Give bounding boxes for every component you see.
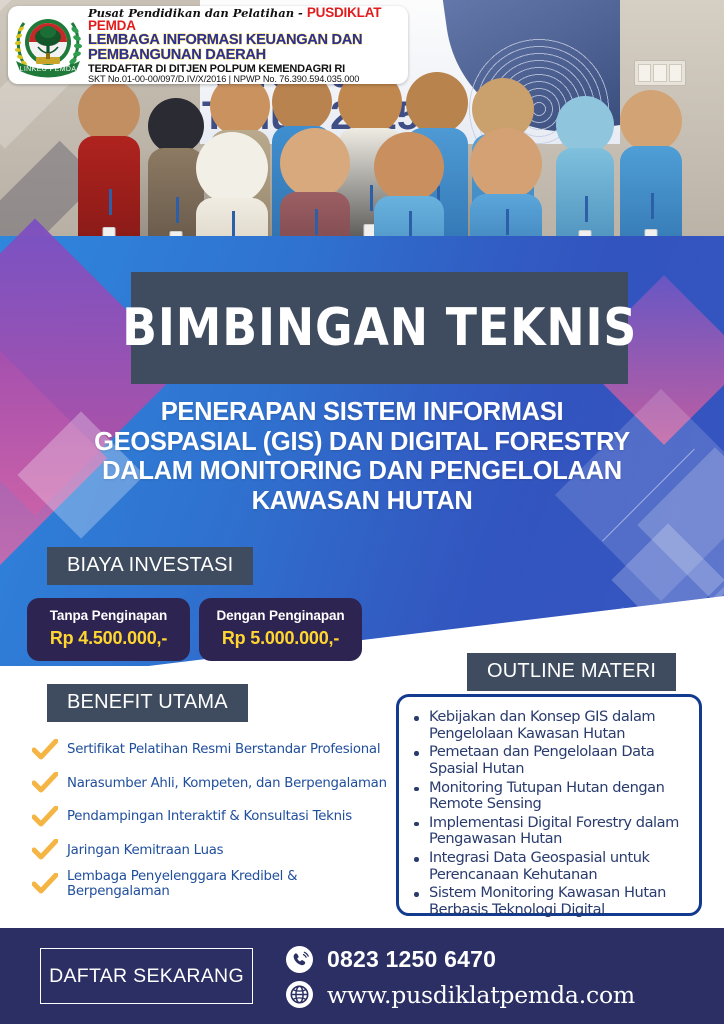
benefit-item: Sertifikat Pelatihan Resmi Berstandar Pr… xyxy=(32,733,392,767)
subtitle-line-3: DALAM MONITORING DAN PENGELOLAAN xyxy=(62,457,662,487)
logo-org-name: LEMBAGA INFORMASI KEUANGAN DAN PEMBANGUN… xyxy=(88,33,400,63)
price-card-group: Tanpa Penginapan Rp 4.500.000,- Dengan P… xyxy=(27,598,362,661)
poster: pan melalui : Versi. 6 Tahun 2025 xyxy=(0,0,724,1024)
check-icon xyxy=(32,873,58,895)
benefit-item: Narasumber Ahli, Kompeten, dan Berpengal… xyxy=(32,767,392,801)
price-card-dengan-penginapan: Dengan Penginapan Rp 5.000.000,- xyxy=(199,598,362,661)
logo-tagline: Pusat Pendidikan dan Pelatihan - PUSDIKL… xyxy=(88,6,400,34)
outline-item: Monitoring Tutupan Hutan dengan Remote S… xyxy=(407,780,689,813)
benefits-heading: BENEFIT UTAMA xyxy=(47,684,248,722)
price-label: Dengan Penginapan xyxy=(215,608,346,623)
outline-list: Kebijakan dan Konsep GIS dalam Pengelola… xyxy=(407,709,689,919)
organization-logo-bar: LINKEU PEMDA Pusat Pendidikan dan Pelati… xyxy=(8,6,408,84)
main-title-box: BIMBINGAN TEKNIS xyxy=(131,272,628,384)
phone-number: 0823 1250 6470 xyxy=(327,946,496,973)
price-value: Rp 5.000.000,- xyxy=(215,628,346,649)
price-value: Rp 4.500.000,- xyxy=(43,628,174,649)
page-title: BIMBINGAN TEKNIS xyxy=(122,298,637,358)
price-card-tanpa-penginapan: Tanpa Penginapan Rp 4.500.000,- xyxy=(27,598,190,661)
emblem-ribbon-text: LINKEU PEMDA xyxy=(20,66,77,73)
globe-icon xyxy=(286,981,313,1008)
check-icon xyxy=(32,839,58,861)
benefit-label: Lembaga Penyelenggara Kredibel & Berpeng… xyxy=(67,869,392,899)
outline-item: Kebijakan dan Konsep GIS dalam Pengelola… xyxy=(407,709,689,742)
outline-item: Sistem Monitoring Kawasan Hutan Berbasis… xyxy=(407,885,689,918)
contact-block: 0823 1250 6470 www.pusdiklatpemda.com xyxy=(286,944,635,1014)
check-icon xyxy=(32,806,58,828)
website-url: www.pusdiklatpemda.com xyxy=(327,981,635,1009)
register-now-button[interactable]: DAFTAR SEKARANG xyxy=(40,948,253,1004)
benefit-label: Jaringan Kemitraan Luas xyxy=(67,843,223,858)
investment-heading: BIAYA INVESTASI xyxy=(47,547,253,585)
contact-phone-row[interactable]: 0823 1250 6470 xyxy=(286,944,635,975)
subtitle-line-4: KAWASAN HUTAN xyxy=(62,487,662,517)
check-icon xyxy=(32,772,58,794)
benefit-label: Pendampingan Interaktif & Konsultasi Tek… xyxy=(67,809,352,824)
subtitle-line-1: PENERAPAN SISTEM INFORMASI xyxy=(62,398,662,428)
contact-website-row[interactable]: www.pusdiklatpemda.com xyxy=(286,979,635,1010)
price-label: Tanpa Penginapan xyxy=(43,608,174,623)
subtitle-block: PENERAPAN SISTEM INFORMASI GEOSPASIAL (G… xyxy=(62,398,662,516)
organization-text-block: Pusat Pendidikan dan Pelatihan - PUSDIKL… xyxy=(84,6,400,85)
outline-item: Implementasi Digital Forestry dalam Peng… xyxy=(407,815,689,848)
phone-icon xyxy=(286,946,313,973)
benefit-label: Narasumber Ahli, Kompeten, dan Berpengal… xyxy=(67,776,387,791)
logo-license-number: SKT No.01-00-00/097/D.IV/X/2016 | NPWP N… xyxy=(88,75,400,84)
check-icon xyxy=(32,739,58,761)
outline-item: Pemetaan dan Pengelolaan Data Spasial Hu… xyxy=(407,744,689,777)
subtitle-line-2: GEOSPASIAL (GIS) DAN DIGITAL FORESTRY xyxy=(62,428,662,458)
footer-bar: DAFTAR SEKARANG 0823 1250 6470 xyxy=(0,928,724,1024)
benefit-label: Sertifikat Pelatihan Resmi Berstandar Pr… xyxy=(67,742,380,757)
outline-materi-box: Kebijakan dan Konsep GIS dalam Pengelola… xyxy=(396,694,702,916)
benefit-item: Jaringan Kemitraan Luas xyxy=(32,834,392,868)
benefit-item: Pendampingan Interaktif & Konsultasi Tek… xyxy=(32,800,392,834)
pusdiklat-emblem-icon: LINKEU PEMDA xyxy=(12,9,84,81)
benefits-list: Sertifikat Pelatihan Resmi Berstandar Pr… xyxy=(32,733,392,901)
outline-heading: OUTLINE MATERI xyxy=(467,653,676,691)
outline-item: Integrasi Data Geospasial untuk Perencan… xyxy=(407,850,689,883)
benefit-item: Lembaga Penyelenggara Kredibel & Berpeng… xyxy=(32,867,392,901)
